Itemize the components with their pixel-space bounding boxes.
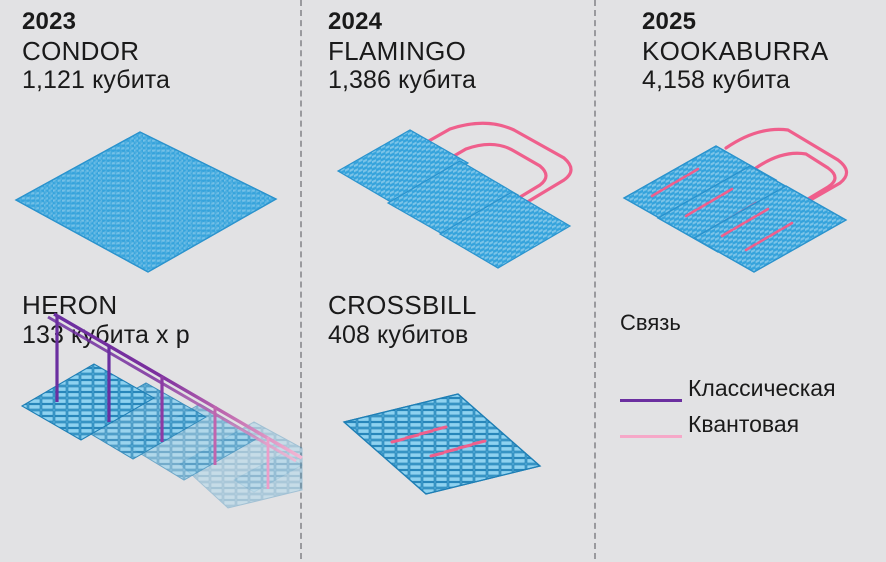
column-header-2023: 2023 CONDOR 1,121 кубита xyxy=(22,8,170,95)
year-label-2025: 2025 xyxy=(642,8,829,36)
year-label-2024: 2024 xyxy=(328,8,476,36)
chip-name-crossbill: CROSSBILL xyxy=(328,290,477,321)
kookaburra-chip-diagram xyxy=(616,118,886,273)
column-header-2025: 2025 KOOKABURRA 4,158 кубита xyxy=(642,8,829,95)
column-subheader-heron: HERON 133 кубита х р xyxy=(22,290,190,350)
legend-label-quantum: Квантовая xyxy=(688,411,799,438)
flamingo-chip-diagram xyxy=(318,118,594,273)
chip-name-flamingo: FLAMINGO xyxy=(328,36,476,66)
qubit-count-crossbill: 408 кубитов xyxy=(328,321,477,351)
qubit-count-condor: 1,121 кубита xyxy=(22,66,170,95)
column-header-2024: 2024 FLAMINGO 1,386 кубита xyxy=(328,8,476,95)
qubit-count-kookaburra: 4,158 кубита xyxy=(642,66,829,95)
chip-name-kookaburra: KOOKABURRA xyxy=(642,36,829,66)
column-divider-2 xyxy=(594,0,596,559)
qubit-count-flamingo: 1,386 кубита xyxy=(328,66,476,95)
line-swatch-icon-classical xyxy=(620,399,682,402)
column-subheader-crossbill: CROSSBILL 408 кубитов xyxy=(328,290,477,350)
line-swatch-icon-quantum xyxy=(620,435,682,438)
legend-title: Связь xyxy=(620,310,681,336)
crossbill-chip-diagram xyxy=(318,380,594,520)
year-label-2023: 2023 xyxy=(22,8,170,36)
chip-name-condor: CONDOR xyxy=(22,36,170,66)
condor-die xyxy=(16,132,276,272)
infographic-canvas: 2023 CONDOR 1,121 кубита HERON 133 кубит… xyxy=(0,0,886,559)
chip-name-heron: HERON xyxy=(22,290,190,321)
condor-chip-diagram xyxy=(8,122,298,272)
heron-chip-diagram xyxy=(2,362,302,562)
legend-label-classical: Классическая xyxy=(688,375,836,402)
crossbill-die xyxy=(344,394,540,494)
